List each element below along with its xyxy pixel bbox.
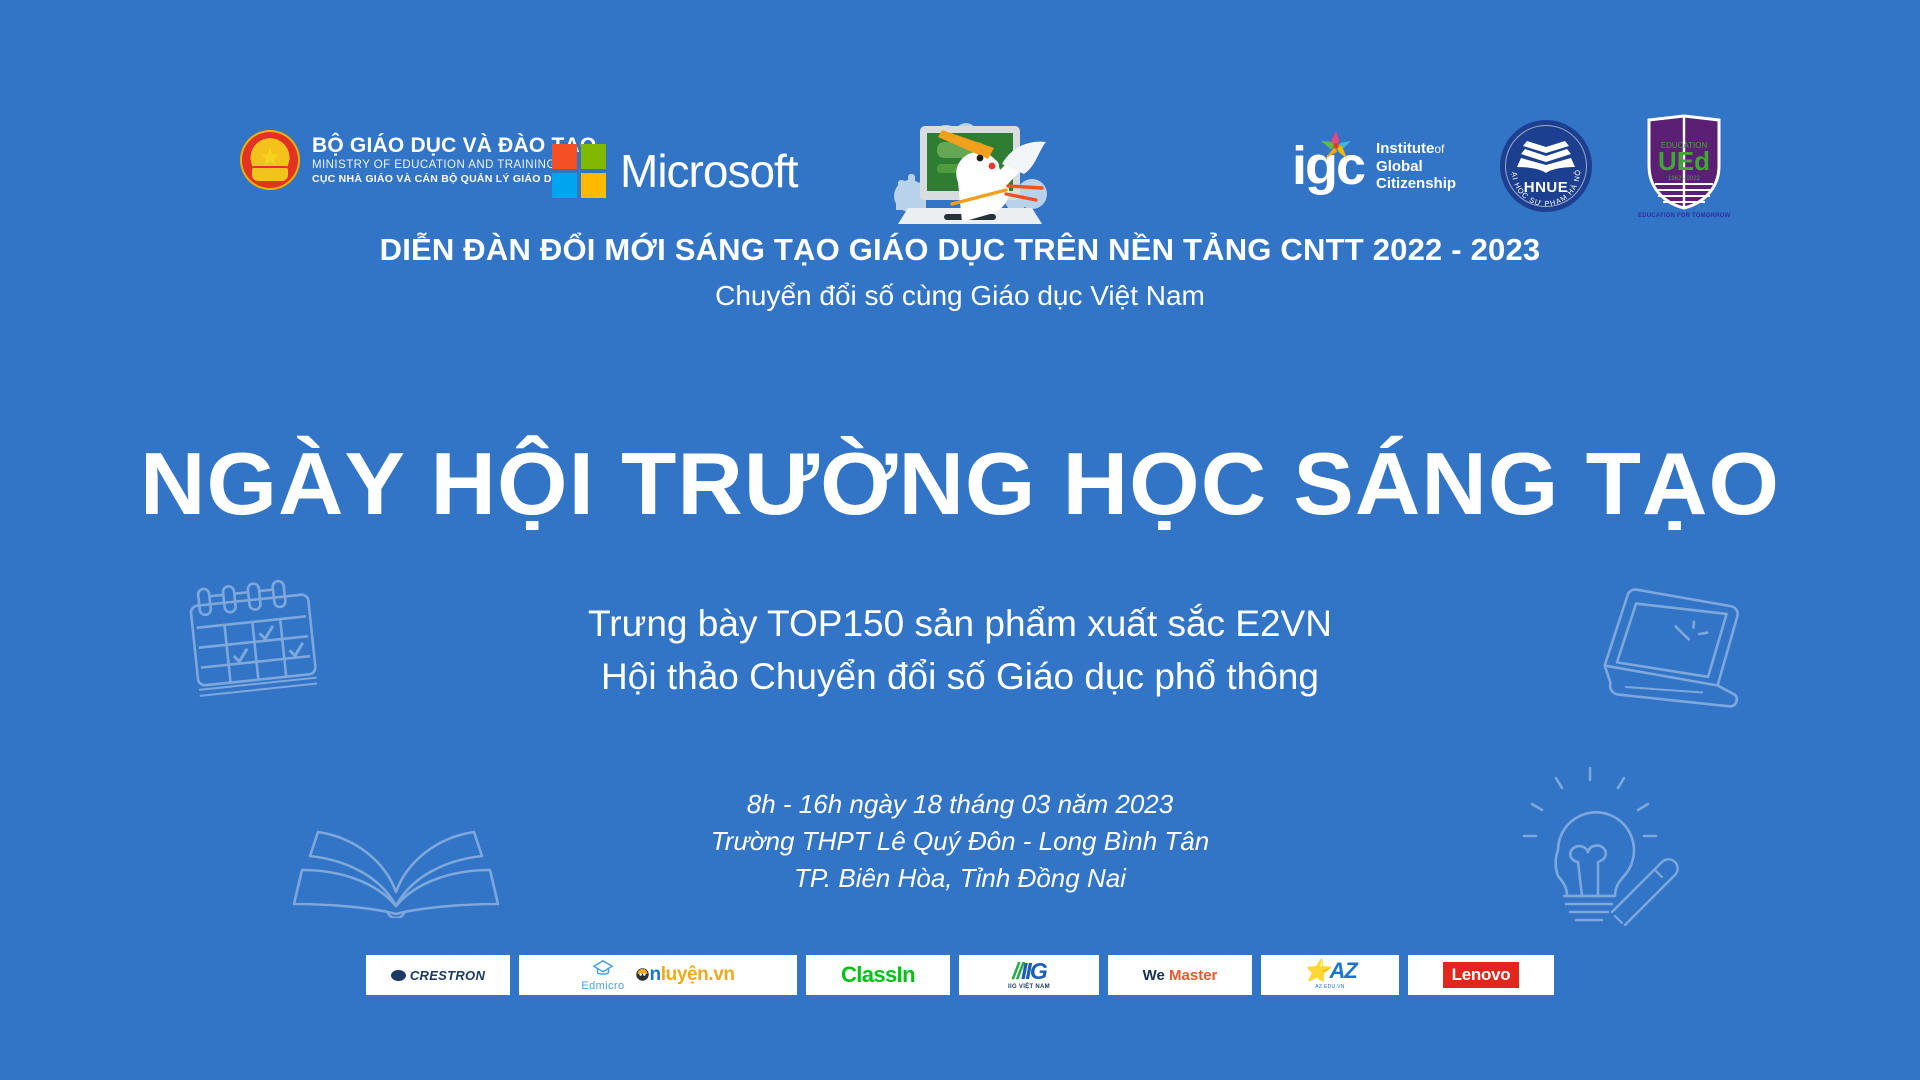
edmicro-mark: Edmicro [581,958,624,992]
poster-canvas: BỘ GIÁO DỤC VÀ ĐÀO TẠO MINISTRY OF EDUCA… [0,0,1920,1080]
sponsor-wemaster: We Master [1108,955,1252,995]
event-time: 8h - 16h ngày 18 tháng 03 năm 2023 [0,786,1920,823]
microsoft-squares-icon [552,144,606,198]
svg-text:UEd: UEd [1658,146,1710,176]
event-location: TP. Biên Hòa, Tỉnh Đồng Nai [0,860,1920,897]
lenovo-label: Lenovo [1443,962,1520,988]
wemaster-label: We Master [1143,967,1218,984]
vietnam-emblem-icon [240,130,300,190]
forum-subtitle: Chuyển đổi số cùng Giáo dục Việt Nam [0,280,1920,312]
sponsor-lenovo: Lenovo [1408,955,1554,995]
igc-subtitle: Instituteof Global Citizenship [1376,140,1456,193]
az-sublabel: AZ.EDU.VN [1315,984,1344,990]
sponsor-iig: //IIG IIG VIỆT NAM [959,955,1099,995]
logo-e2vn-stork [882,104,1054,234]
logo-microsoft: Microsoft [552,144,798,198]
svg-text:ĐẠI HỌC SƯ PHẠM HÀ NỘI: ĐẠI HỌC SƯ PHẠM HÀ NỘI [1500,120,1582,208]
onluyen-label: nluyện.vn [635,964,735,986]
hnue-emblem-icon: HNUE ĐẠI HỌC SƯ PHẠM HÀ NỘI [1500,120,1592,212]
sponsor-bar: CRESTRON Edmicro nluyện.vn ClassIn [0,955,1920,995]
event-venue: Trường THPT Lê Quý Đôn - Long Bình Tân [0,823,1920,860]
logo-ued: EDUCATION UEd 1962 - 2022 EDUCATION FOR … [1638,114,1731,219]
lead-line-1: Trưng bày TOP150 sản phẩm xuất sắc E2VN [0,598,1920,651]
partner-logo-strip: BỘ GIÁO DỤC VÀ ĐÀO TẠO MINISTRY OF EDUCA… [0,52,1920,182]
lead-block: Trưng bày TOP150 sản phẩm xuất sắc E2VN … [0,598,1920,703]
classin-label: ClassIn [841,962,915,988]
hnue-arc-text: ĐẠI HỌC SƯ PHẠM HÀ NỘI [1500,120,1592,212]
event-details: 8h - 16h ngày 18 tháng 03 năm 2023 Trườn… [0,786,1920,897]
logo-hnue: HNUE ĐẠI HỌC SƯ PHẠM HÀ NỘI [1500,120,1592,212]
ued-shield-icon: EDUCATION UEd 1962 - 2022 [1647,114,1721,210]
igc-star-icon [1319,129,1353,163]
iig-sublabel: IIG VIỆT NAM [1008,984,1050,990]
igc-wordmark: igc [1292,142,1364,191]
az-label: ⭐AZ [1303,960,1357,982]
logo-igc: igc Instituteof Global Citizenship [1292,140,1456,193]
sponsor-az: ⭐AZ AZ.EDU.VN [1261,955,1399,995]
edmicro-label: Edmicro [581,980,624,992]
microsoft-wordmark: Microsoft [620,148,798,194]
ued-tagline: EDUCATION FOR TOMORROW [1638,213,1731,219]
svg-text:1962 - 2022: 1962 - 2022 [1668,176,1701,182]
page-title: NGÀY HỘI TRƯỜNG HỌC SÁNG TẠO [0,440,1920,528]
stork-laptop-icon [882,104,1054,234]
lead-line-2: Hội thảo Chuyển đổi số Giáo dục phổ thôn… [0,651,1920,704]
crestron-mark-icon [391,970,406,981]
iig-label: //IIG [1012,960,1045,983]
edmicro-cap-icon [592,958,614,980]
crestron-label: CRESTRON [410,968,485,983]
sponsor-crestron: CRESTRON [366,955,510,995]
onluyen-bird-icon [635,967,650,982]
sponsor-classin: ClassIn [806,955,950,995]
forum-title: DIỄN ĐÀN ĐỔI MỚI SÁNG TẠO GIÁO DỤC TRÊN … [0,232,1920,268]
sponsor-edmicro: Edmicro nluyện.vn [519,955,797,995]
logo-moet: BỘ GIÁO DỤC VÀ ĐÀO TẠO MINISTRY OF EDUCA… [240,130,596,190]
